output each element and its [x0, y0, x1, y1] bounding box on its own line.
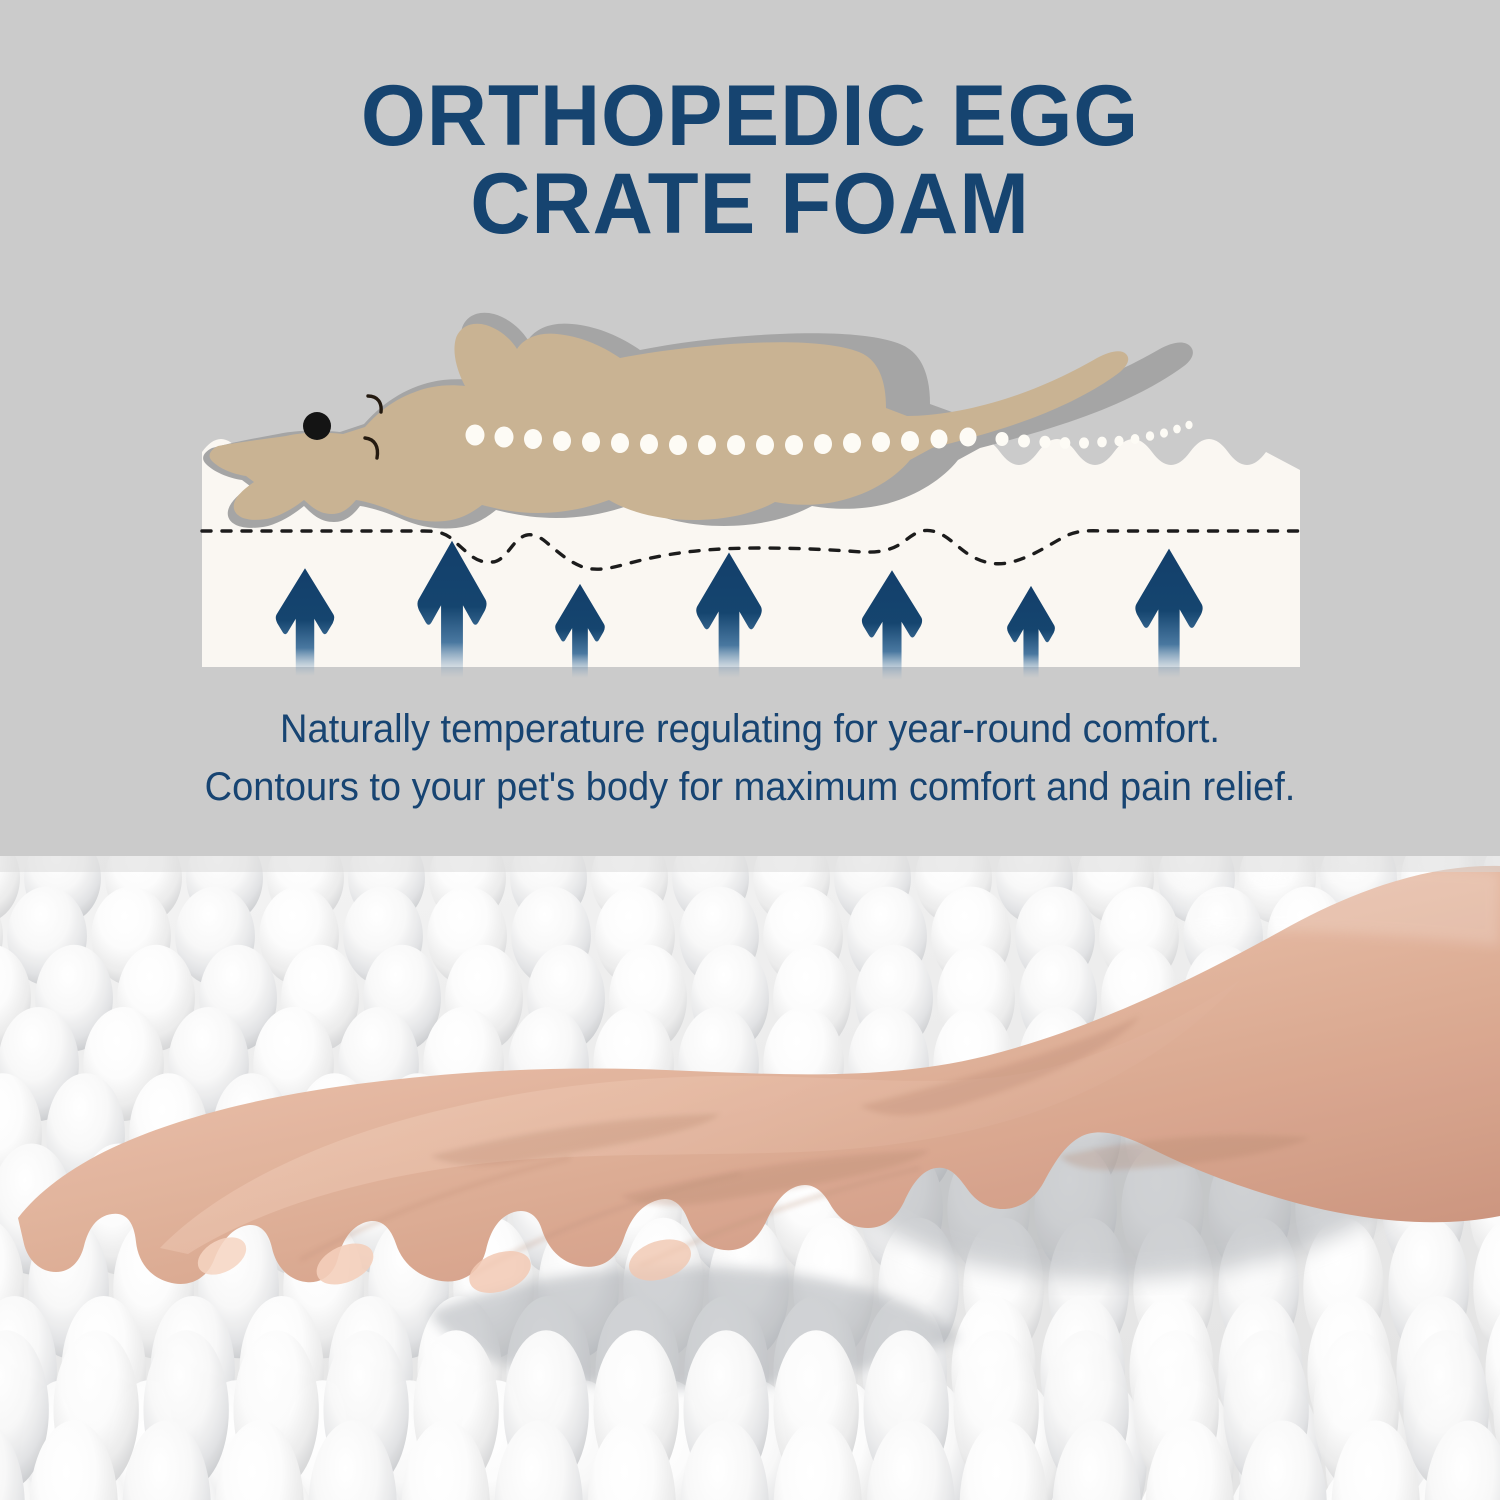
foam-illustration [0, 300, 1500, 680]
caption-line-1: Naturally temperature regulating for yea… [38, 700, 1463, 758]
dog-nose [303, 412, 331, 440]
caption-line-2: Contours to your pet's body for maximum … [38, 758, 1463, 816]
feature-caption: Naturally temperature regulating for yea… [38, 700, 1463, 816]
headline-line-1: ORTHOPEDIC EGG [361, 68, 1139, 164]
product-infographic: ORTHOPEDIC EGG CRATE FOAM [0, 0, 1500, 1500]
top-info-panel: ORTHOPEDIC EGG CRATE FOAM [0, 0, 1500, 856]
page-title: ORTHOPEDIC EGG CRATE FOAM [23, 72, 1478, 248]
headline-line-2: CRATE FOAM [23, 160, 1478, 248]
foam-texture-photo [0, 856, 1500, 1500]
